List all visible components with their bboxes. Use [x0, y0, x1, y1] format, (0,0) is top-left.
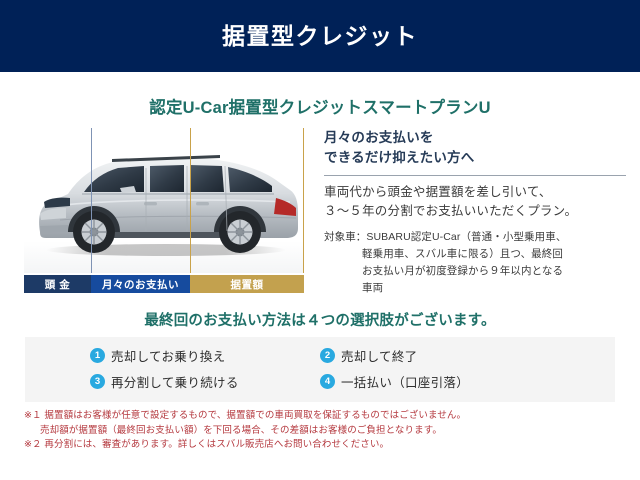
segment-divider-monthly	[190, 128, 191, 273]
option-number-badge-1: 1	[90, 348, 105, 363]
eligible-vehicle-line2: 軽乗用車、スバル車に限る）且つ、最終回	[324, 246, 626, 263]
plan-subtitle: 認定U-Car据置型クレジットスマートプランU	[0, 94, 640, 118]
options-title: 最終回のお支払い方法は４つの選択肢がございます。	[0, 309, 640, 330]
description-body-line2: ３～５年の分割でお支払いいただくプラン。	[324, 202, 626, 221]
main-content: 頭 金 月々のお支払い 据置額 月々のお支払いを できるだけ抑えたい方へ 車両代…	[0, 128, 640, 297]
segment-label-downpayment: 頭 金	[24, 275, 91, 293]
option-label-4: 一括払い（口座引落）	[341, 372, 469, 391]
eligible-vehicle-line4: 車両	[324, 280, 626, 297]
footnote-1-line1: ※１ 据置額はお客様が任意で設定するもので、据置額での車両買取を保証するものでは…	[24, 409, 640, 423]
segment-label-monthly: 月々のお支払い	[91, 275, 190, 293]
segment-divider-downpayment	[91, 128, 92, 273]
footnote-1-line2: 売却額が据置額（最終回お支払い額）を下回る場合、その差額はお客様のご負担となりま…	[24, 424, 640, 438]
eligible-vehicle-note: 対象車：SUBARU認定U-Car（普通・小型乗用車、 軽乗用車、スバル車に限る…	[324, 229, 626, 297]
eligible-vehicle-line1: 対象車：SUBARU認定U-Car（普通・小型乗用車、	[324, 231, 566, 243]
car-illustration-icon	[24, 128, 304, 273]
segment-label-residual: 据置額	[190, 275, 304, 293]
eligible-vehicle-line3: お支払い月が初度登録から９年以内となる	[324, 263, 626, 280]
option-label-3: 再分割して乗り続ける	[111, 372, 239, 391]
option-number-badge-3: 3	[90, 374, 105, 389]
options-box: 1 売却してお乗り換え 2 売却して終了 3 再分割して乗り続ける 4 一括払い…	[25, 337, 615, 402]
option-item-4[interactable]: 4 一括払い（口座引落）	[320, 372, 550, 391]
description-heading: 月々のお支払いを できるだけ抑えたい方へ	[324, 128, 626, 169]
option-number-badge-4: 4	[320, 374, 335, 389]
description-divider	[324, 175, 626, 176]
options-grid: 1 売却してお乗り換え 2 売却して終了 3 再分割して乗り続ける 4 一括払い…	[25, 346, 615, 391]
payment-segment-bar: 頭 金 月々のお支払い 据置額	[24, 275, 304, 293]
footnotes: ※１ 据置額はお客様が任意で設定するもので、据置額での車両買取を保証するものでは…	[0, 409, 640, 452]
description-body-line1: 車両代から頭金や据置額を差し引いて、	[324, 183, 626, 202]
figure-column: 頭 金 月々のお支払い 据置額	[24, 128, 312, 297]
car-figure	[24, 128, 304, 273]
segment-divider-residual	[303, 128, 304, 273]
option-label-1: 売却してお乗り換え	[111, 346, 225, 365]
option-item-3[interactable]: 3 再分割して乗り続ける	[90, 372, 320, 391]
option-label-2: 売却して終了	[341, 346, 417, 365]
description-heading-line2: できるだけ抑えたい方へ	[324, 148, 626, 168]
option-number-badge-2: 2	[320, 348, 335, 363]
description-heading-line1: 月々のお支払いを	[324, 128, 626, 148]
page-header: 据置型クレジット	[0, 0, 640, 72]
page-title: 据置型クレジット	[222, 25, 418, 48]
option-item-1[interactable]: 1 売却してお乗り換え	[90, 346, 320, 365]
description-column: 月々のお支払いを できるだけ抑えたい方へ 車両代から頭金や据置額を差し引いて、 …	[312, 128, 626, 297]
option-item-2[interactable]: 2 売却して終了	[320, 346, 550, 365]
footnote-2: ※２ 再分割には、審査があります。詳しくはスバル販売店へお問い合わせください。	[24, 438, 640, 452]
description-body: 車両代から頭金や据置額を差し引いて、 ３～５年の分割でお支払いいただくプラン。	[324, 183, 626, 222]
